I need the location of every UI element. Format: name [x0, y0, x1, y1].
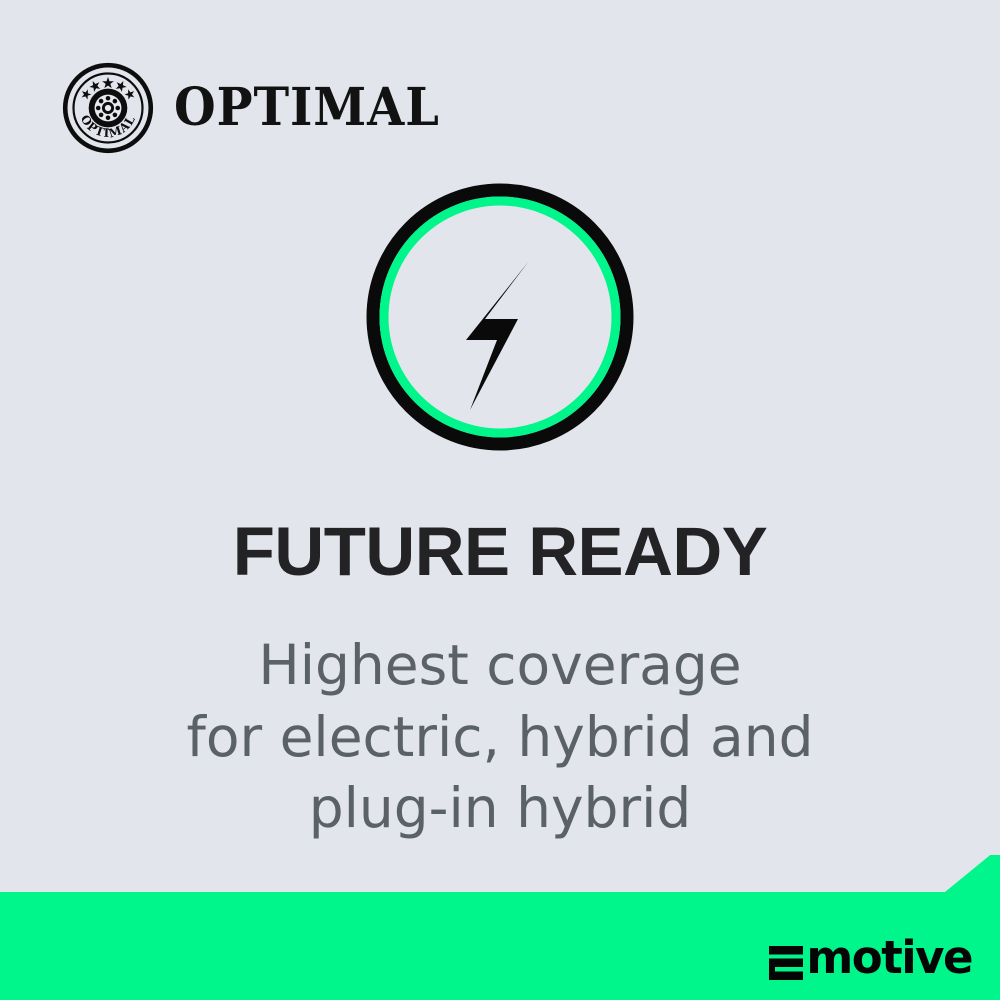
optimal-bearing-badge-icon: OPTIMAL [62, 62, 154, 154]
lightning-bolt-in-circle-icon [366, 183, 634, 451]
bearing-hub-icon [89, 89, 128, 128]
subtitle-line-2: for electric, hybrid and [0, 702, 1000, 774]
emotive-logo: motive [769, 939, 972, 977]
bolt-glyph [466, 261, 529, 410]
emotive-logo-text: motive [806, 939, 972, 977]
footer-band: motive [0, 855, 1000, 1000]
emotive-e-glyph [769, 942, 803, 976]
subtitle-line-1: Highest coverage [0, 630, 1000, 702]
brand-wordmark: OPTIMAL [174, 82, 440, 134]
subtitle-line-3: plug-in hybrid [0, 773, 1000, 845]
promo-poster: OPTIMAL OPTIMAL [0, 0, 1000, 1000]
page-title: FUTURE READY [0, 517, 1000, 586]
subtitle: Highest coverage for electric, hybrid an… [0, 630, 1000, 845]
hero-icon-container [366, 183, 634, 451]
brand-lockup: OPTIMAL OPTIMAL [62, 62, 463, 154]
